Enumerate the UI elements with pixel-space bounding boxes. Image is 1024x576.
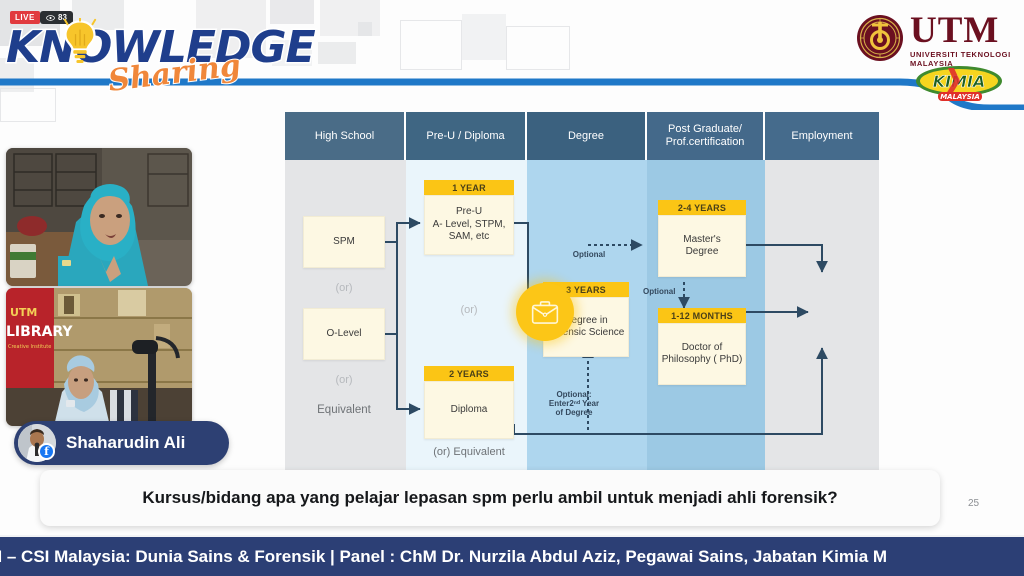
ticker-text: M – CSI Malaysia: Dunia Sains & Forensik…	[0, 547, 887, 567]
decorative-outline	[506, 26, 570, 70]
node-label: Doctor of Philosophy ( PhD)	[662, 342, 743, 367]
eye-icon	[46, 15, 55, 21]
briefcase-icon	[530, 299, 560, 326]
question-caption-card: Kursus/bidang apa yang pelajar lepasan s…	[40, 470, 940, 526]
decorative-square	[270, 0, 314, 24]
column-header-pre-u: Pre-U / Diploma	[406, 112, 527, 160]
knowledge-sharing-logo: LIVE 83 KNOWLEDGE Sharing	[4, 8, 262, 100]
employment-node	[516, 283, 574, 341]
node-o-level: O-Level	[303, 308, 385, 360]
node-cap-diploma: 2 YEARS	[424, 366, 514, 381]
utm-seal-icon	[856, 14, 904, 62]
video-tile-presenter-2[interactable]: UTM LIBRARY Creative Institute	[6, 288, 192, 426]
node-diploma: Diploma	[424, 381, 514, 439]
column-header-label: High School	[315, 130, 374, 143]
career-pathway-flowchart: High School Pre-U / Diploma Degree Post …	[285, 112, 879, 470]
node-label: SPM	[333, 236, 355, 249]
utm-abbreviation: UTM	[910, 12, 999, 50]
svg-text:LIBRARY: LIBRARY	[6, 324, 73, 340]
speaker-name: Shaharudin Ali	[66, 433, 185, 453]
video-tile-presenter-1[interactable]	[6, 148, 192, 286]
node-cap-phd: 1-12 MONTHS	[658, 308, 746, 323]
decorative-outline	[400, 20, 462, 70]
column-header-postgrad: Post Graduate/ Prof.certification	[647, 112, 765, 160]
speaker-name-badge[interactable]: f Shaharudin Ali	[14, 421, 229, 465]
column-header-degree: Degree	[527, 112, 647, 160]
svg-text:UTM: UTM	[10, 306, 37, 319]
column-band-employment	[765, 160, 879, 470]
facebook-icon: f	[38, 443, 55, 460]
node-masters-degree: Master's Degree	[658, 215, 746, 277]
or-label-1: (or)	[303, 282, 385, 294]
or-label-2: (or)	[303, 374, 385, 386]
equivalent-label: Equivalent	[303, 404, 385, 416]
column-header-label: Employment	[791, 130, 852, 143]
svg-text:Creative Institute: Creative Institute	[8, 344, 51, 350]
or-label-mid: (or)	[424, 304, 514, 316]
utm-logo-block: UTM UNIVERSITI TEKNOLOGI MALAYSIA KIMIA …	[852, 6, 1012, 106]
node-label: Pre-U A- Level, STPM, SAM, etc	[433, 206, 506, 244]
optional-enter-2nd-year-label: Optional: Enter2ⁿᵈ Year of Degree	[537, 390, 611, 417]
column-header-label: Post Graduate/ Prof.certification	[666, 123, 745, 149]
column-header-high-school: High School	[285, 112, 406, 160]
decorative-square	[318, 42, 356, 64]
node-phd: Doctor of Philosophy ( PhD)	[658, 323, 746, 385]
node-pre-u: Pre-U A- Level, STPM, SAM, etc	[424, 195, 514, 255]
presenter-1-video	[6, 148, 192, 286]
node-label: Diploma	[451, 404, 488, 417]
optional-label-phd: Optional	[643, 287, 685, 296]
optional-label-master: Optional	[559, 250, 619, 259]
bottom-ticker-bar: M – CSI Malaysia: Dunia Sains & Forensik…	[0, 535, 1024, 576]
or-equivalent-label: (or) Equivalent	[407, 446, 531, 458]
lightbulb-icon	[62, 18, 98, 68]
kimia-malaysia-logo: KIMIA MALAYSIA	[914, 64, 1004, 104]
column-header-employment: Employment	[765, 112, 879, 160]
column-header-label: Pre-U / Diploma	[426, 130, 504, 143]
node-cap-pre-u: 1 YEAR	[424, 180, 514, 195]
node-spm: SPM	[303, 216, 385, 268]
presenter-2-video: UTM LIBRARY Creative Institute	[6, 288, 192, 426]
node-label: Master's Degree	[683, 234, 720, 259]
question-caption-text: Kursus/bidang apa yang pelajar lepasan s…	[142, 488, 837, 508]
decorative-square	[462, 14, 506, 60]
decorative-square	[358, 22, 372, 36]
slide-page-number: 25	[968, 498, 979, 509]
node-label: O-Level	[326, 328, 361, 341]
node-cap-masters: 2-4 YEARS	[658, 200, 746, 215]
column-header-label: Degree	[568, 130, 604, 143]
svg-text:MALAYSIA: MALAYSIA	[940, 93, 980, 101]
